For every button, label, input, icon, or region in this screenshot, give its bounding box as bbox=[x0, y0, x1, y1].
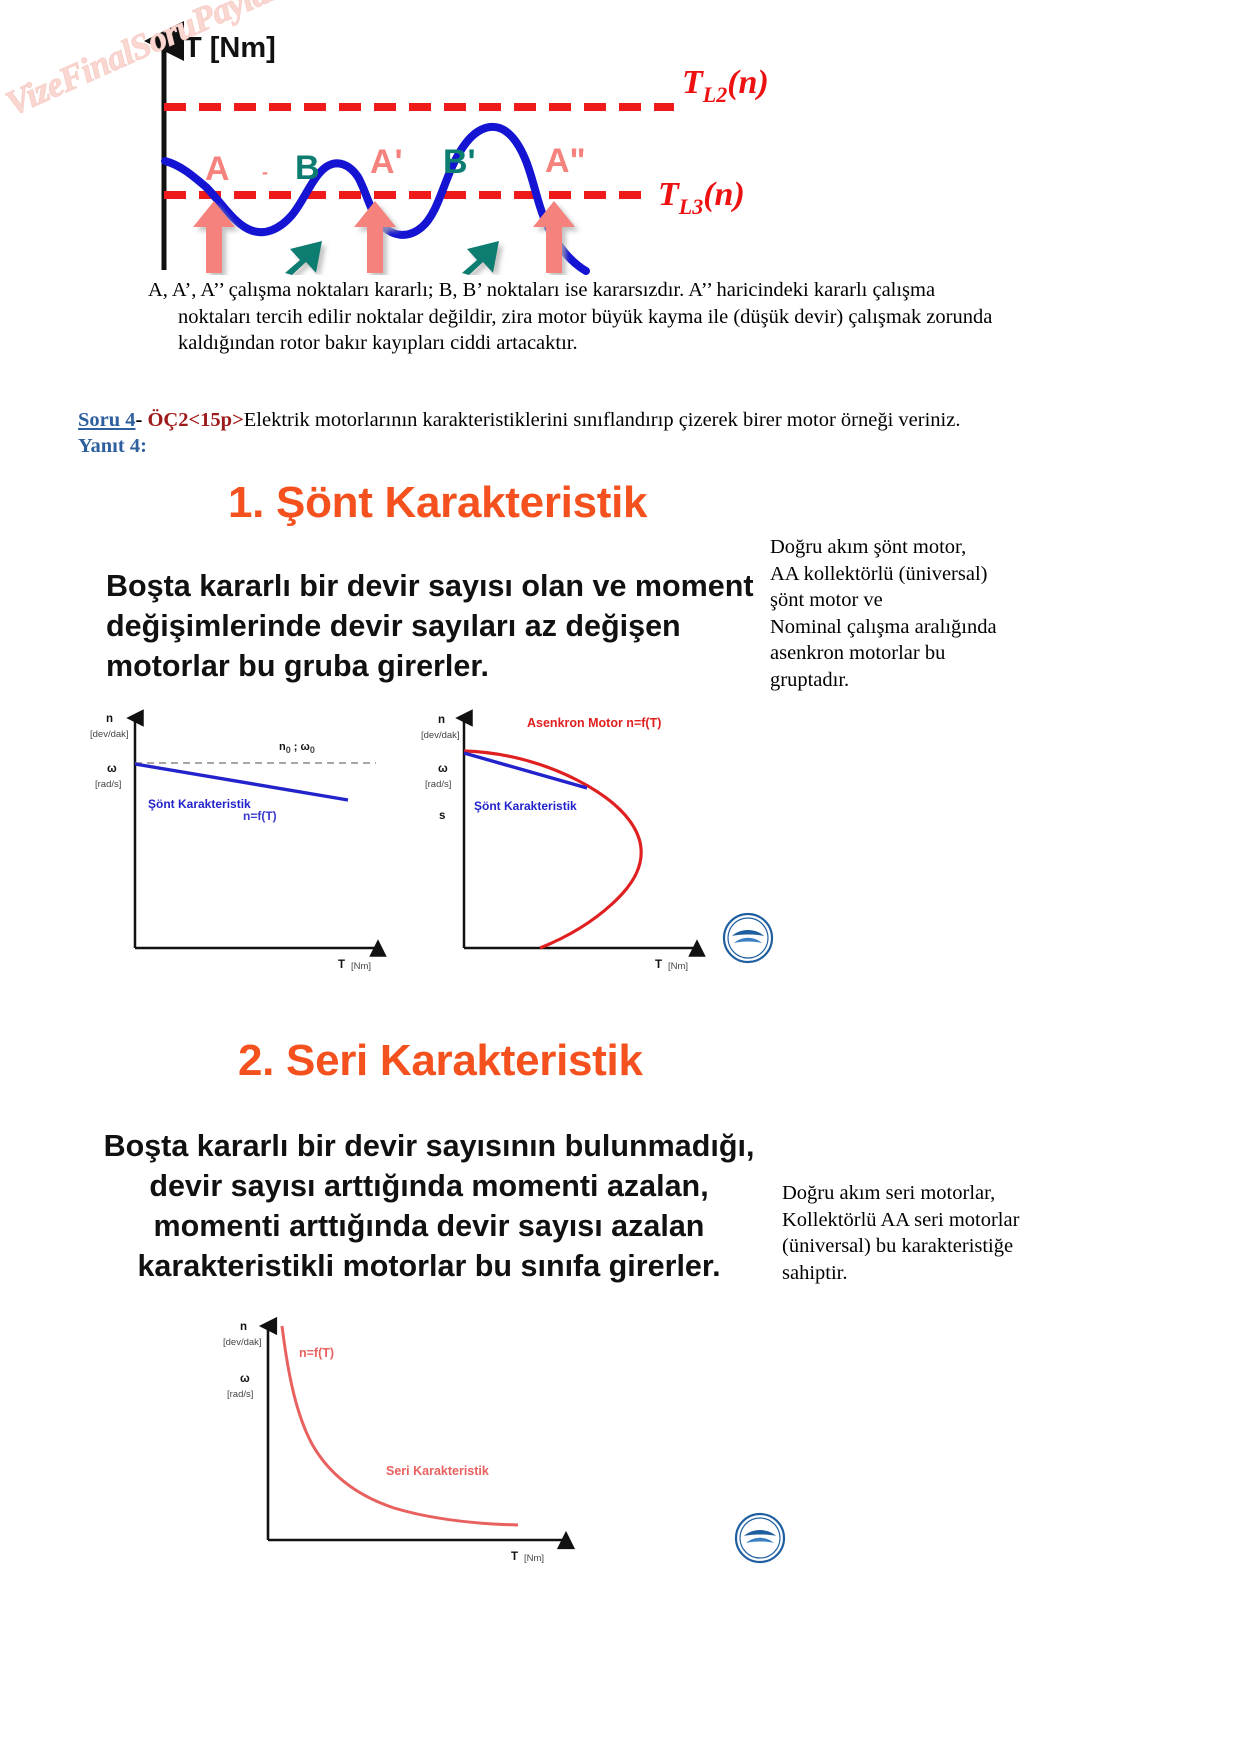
chart1-n0-omega0-label: n0 ; ω0 bbox=[279, 741, 315, 755]
chart1-ylabel-n-unit: [dev/dak] bbox=[90, 729, 129, 740]
section-2-note-line-3: (üniversal) bu karakteristiğe bbox=[782, 1233, 1062, 1260]
question-4-block: Soru 4- ÖÇ2<15p>Elektrik motorlarının ka… bbox=[78, 408, 1053, 459]
chart2-ylabel-n: n bbox=[438, 714, 445, 726]
institution-logo-icon-2 bbox=[734, 1512, 786, 1564]
section-2-body-line-2: devir sayısı arttığında momenti azalan, bbox=[84, 1166, 774, 1206]
section-2-body-line-1: Boşta kararlı bir devir sayısının bulunm… bbox=[84, 1126, 774, 1166]
section-1-note-line-3: şönt motor ve bbox=[770, 587, 1050, 614]
chart1-series-label-nft: n=f(T) bbox=[243, 809, 277, 823]
paragraph-line-1: A, A’, A’’ çalışma noktaları kararlı; B,… bbox=[148, 279, 935, 301]
explanation-paragraph: A, A’, A’’ çalışma noktaları kararlı; B,… bbox=[148, 277, 1053, 357]
load-line-tl3-label: TL3(n) bbox=[658, 176, 745, 219]
chart1-xlabel-t: T bbox=[338, 959, 345, 971]
chart-asenkron-motor: n [dev/dak] ω [rad/s] s T [Nm] Asenkron … bbox=[412, 700, 732, 990]
chart2-ylabel-n-unit: [dev/dak] bbox=[421, 730, 460, 741]
chart3-ylabel-omega-unit: [rad/s] bbox=[227, 1389, 253, 1400]
chart1-ylabel-n: n bbox=[106, 713, 113, 725]
torque-speed-stability-figure: T [Nm] TL2(n) TL3(n) A - B A' B' A" bbox=[140, 15, 820, 275]
chart3-ylabel-n: n bbox=[240, 1321, 247, 1333]
chart-sont-karakteristik-dc: n [dev/dak] ω [rad/s] T [Nm] n0 ; ω0 Şön… bbox=[88, 700, 408, 990]
arrow-unstable-b-prime bbox=[462, 241, 499, 275]
question-dash: - bbox=[136, 409, 148, 431]
answer-label: Yanıt 4: bbox=[78, 434, 1053, 459]
point-dash-marker: - bbox=[262, 162, 268, 182]
section-1-note-line-6: gruptadır. bbox=[770, 667, 1050, 694]
chart1-ylabel-omega: ω bbox=[107, 763, 117, 775]
section-2-title: 2. Seri Karakteristik bbox=[238, 1036, 643, 1086]
chart2-ylabel-omega-unit: [rad/s] bbox=[425, 779, 451, 790]
chart3-ylabel-n-unit: [dev/dak] bbox=[223, 1337, 262, 1348]
section-1-side-note: Doğru akım şönt motor, AA kollektörlü (ü… bbox=[770, 534, 1050, 693]
chart2-ylabel-s: s bbox=[439, 810, 445, 822]
y-axis-label: T [Nm] bbox=[184, 32, 276, 64]
section-1-body-line-1: Boşta kararlı bir devir sayısı olan ve m… bbox=[106, 566, 754, 606]
paragraph-line-3: kaldığından rotor bakır kayıpları ciddi … bbox=[148, 330, 1053, 357]
section-2-note-line-4: sahiptir. bbox=[782, 1260, 1062, 1287]
chart3-xlabel-t-unit: [Nm] bbox=[524, 1553, 544, 1564]
chart3-series-label-nft: n=f(T) bbox=[299, 1346, 334, 1360]
section-1-title: 1. Şönt Karakteristik bbox=[228, 478, 647, 528]
chart3-series-label-seri: Seri Karakteristik bbox=[386, 1464, 489, 1478]
chart2-xlabel-t-unit: [Nm] bbox=[668, 961, 688, 972]
section-2-note-line-2: Kollektörlü AA seri motorlar bbox=[782, 1207, 1062, 1234]
point-label-a: A bbox=[205, 150, 230, 188]
section-1-note-line-4: Nominal çalışma aralığında bbox=[770, 614, 1050, 641]
section-1-note-line-1: Doğru akım şönt motor, bbox=[770, 534, 1050, 561]
section-1-body: Boşta kararlı bir devir sayısı olan ve m… bbox=[106, 566, 754, 686]
chart1-xlabel-t-unit: [Nm] bbox=[351, 961, 371, 972]
arrow-stable-a-prime bbox=[354, 201, 396, 273]
institution-logo-icon bbox=[722, 912, 774, 964]
point-label-a-prime: A' bbox=[370, 143, 403, 181]
section-2-body-line-3: momenti arttığında devir sayısı azalan bbox=[84, 1206, 774, 1246]
section-1-body-line-2: değişimlerinde devir sayıları az değişen bbox=[106, 606, 754, 646]
section-2-body: Boşta kararlı bir devir sayısının bulunm… bbox=[84, 1126, 774, 1286]
chart-seri-karakteristik: n [dev/dak] ω [rad/s] T [Nm] n=f(T) Seri… bbox=[196, 1310, 616, 1570]
chart2-series-asenkron bbox=[464, 751, 641, 948]
chart2-ylabel-omega: ω bbox=[438, 763, 448, 775]
point-label-b: B bbox=[295, 149, 320, 187]
arrow-unstable-b bbox=[285, 241, 322, 275]
section-2-side-note: Doğru akım seri motorlar, Kollektörlü AA… bbox=[782, 1180, 1062, 1286]
point-label-b-prime: B' bbox=[443, 143, 476, 181]
chart2-xlabel-t: T bbox=[655, 959, 662, 971]
chart1-ylabel-omega-unit: [rad/s] bbox=[95, 779, 121, 790]
section-2-body-line-4: karakteristikli motorlar bu sınıfa girer… bbox=[84, 1246, 774, 1286]
learning-outcome-tag: ÖÇ2<15p> bbox=[147, 409, 243, 431]
chart3-xlabel-t: T bbox=[511, 1551, 518, 1563]
question-text: Elektrik motorlarının karakteristiklerin… bbox=[244, 409, 961, 431]
section-1-note-line-2: AA kollektörlü (üniversal) bbox=[770, 561, 1050, 588]
section-1-note-line-5: asenkron motorlar bu bbox=[770, 640, 1050, 667]
chart2-series-label-sont: Şönt Karakteristik bbox=[474, 799, 577, 813]
paragraph-line-2: noktaları tercih edilir noktalar değildi… bbox=[148, 304, 1053, 331]
point-label-a-double-prime: A" bbox=[545, 142, 586, 180]
chart2-series-sont bbox=[464, 753, 587, 788]
question-number: Soru 4 bbox=[78, 409, 136, 431]
section-2-note-line-1: Doğru akım seri motorlar, bbox=[782, 1180, 1062, 1207]
section-1-body-line-3: motorlar bu gruba girerler. bbox=[106, 646, 754, 686]
chart1-series-shunt bbox=[135, 764, 348, 800]
chart1-series-label-sont: Şönt Karakteristik bbox=[148, 797, 251, 811]
chart3-ylabel-omega: ω bbox=[240, 1373, 250, 1385]
load-line-tl2-label: TL2(n) bbox=[682, 64, 769, 107]
chart2-series-label-asenkron: Asenkron Motor n=f(T) bbox=[527, 716, 661, 730]
